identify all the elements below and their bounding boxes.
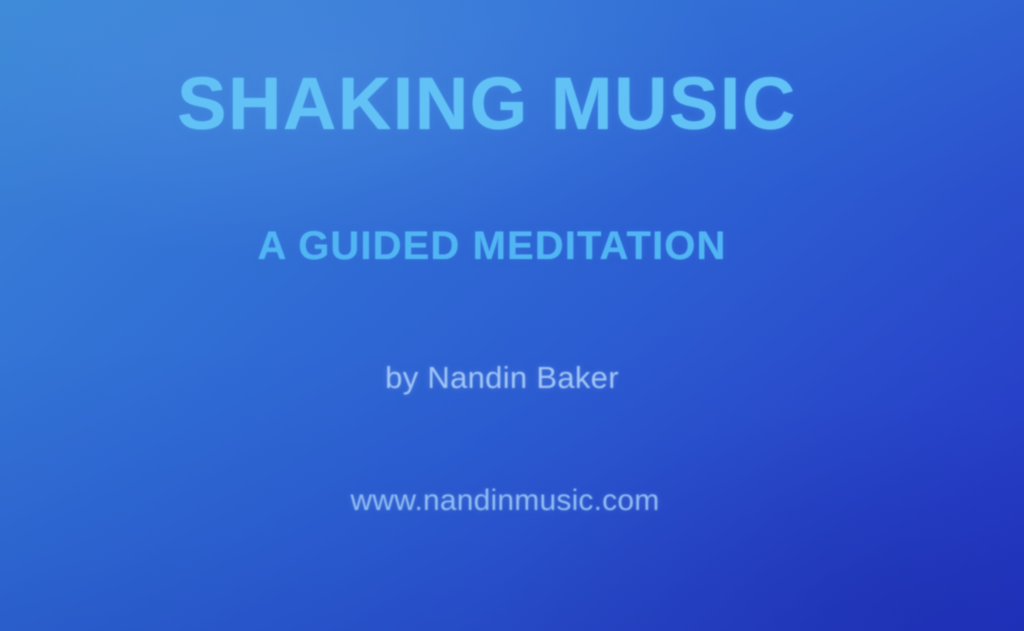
page-subtitle: A GUIDED MEDITATION: [0, 224, 1024, 269]
author-byline: by Nandin Baker: [0, 360, 1024, 396]
title-card-content: SHAKING MUSIC A GUIDED MEDITATION by Nan…: [0, 0, 1024, 631]
website-url: www.nandinmusic.com: [0, 484, 1024, 518]
page-title: SHAKING MUSIC: [0, 64, 1024, 144]
title-card-slide: SHAKING MUSIC A GUIDED MEDITATION by Nan…: [0, 0, 1024, 631]
